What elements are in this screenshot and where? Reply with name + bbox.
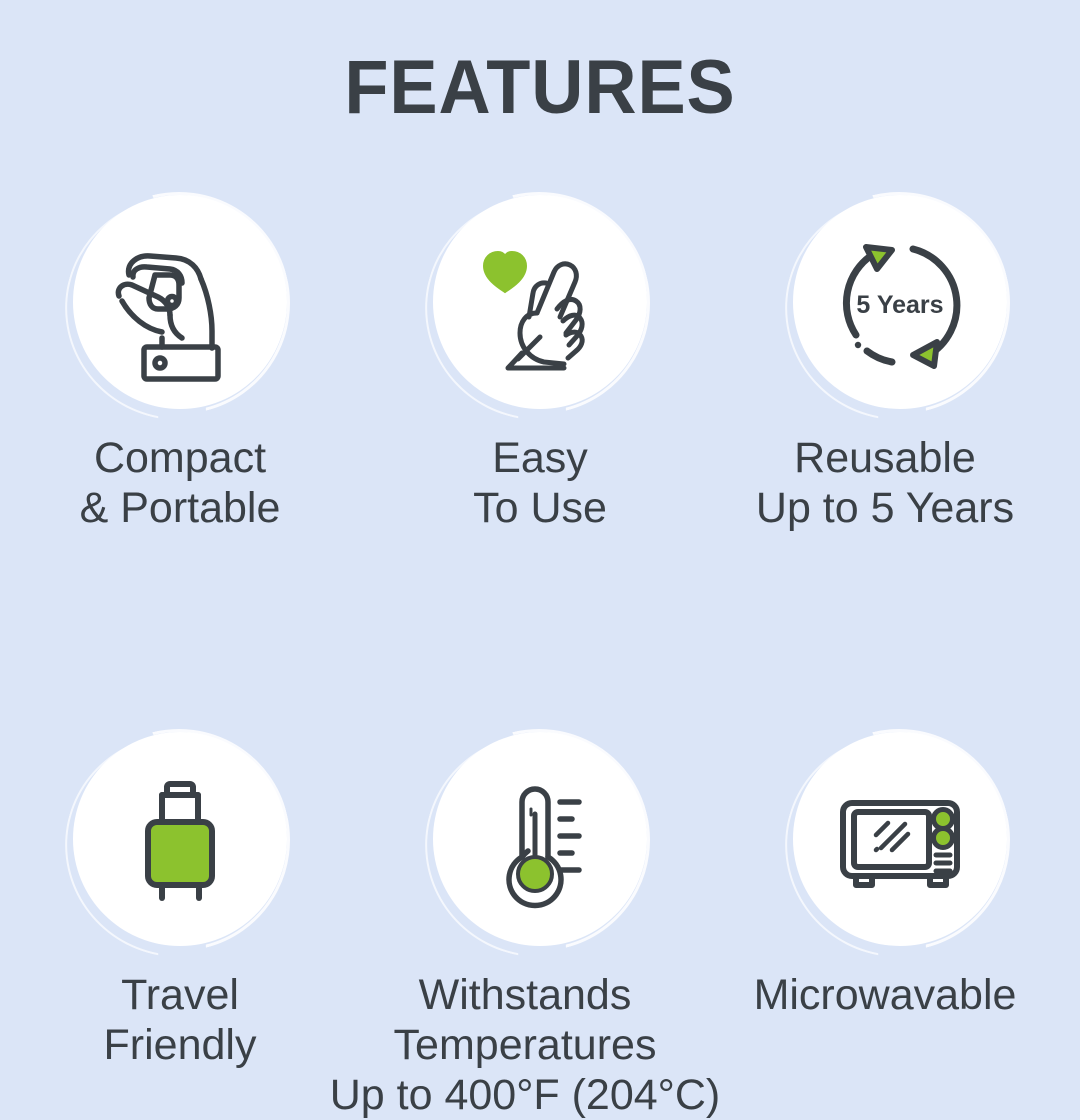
feature-item-compact-portable: Compact & Portable: [0, 190, 360, 534]
caption-line: Withstands: [315, 971, 735, 1021]
icon-medallion: [65, 190, 295, 420]
caption-line: Compact: [80, 434, 281, 484]
icon-medallion: [425, 190, 655, 420]
icon-medallion: [65, 727, 295, 957]
page-title: FEATURES: [27, 50, 1053, 126]
icon-medallion: [785, 727, 1015, 957]
features-row: Compact & Portable: [0, 190, 1080, 534]
feature-caption: Easy To Use: [473, 434, 607, 534]
caption-line: Easy: [473, 434, 607, 484]
arrowhead-top: [866, 247, 892, 269]
icon-medallion: [425, 727, 655, 957]
heart-shape: [484, 252, 526, 292]
thermometer-icon: [460, 762, 620, 922]
microwave-oven-icon: [820, 762, 980, 922]
icon-inner-label: 5 Years: [856, 291, 943, 319]
caption-line: & Portable: [80, 484, 281, 534]
thermometer-bulb: [518, 857, 552, 891]
feature-caption: Travel Friendly: [104, 971, 257, 1071]
circular-arrows-reuse-icon: 5 Years: [820, 225, 980, 385]
microwave-knob-bottom: [934, 828, 953, 847]
hand-holding-device-icon: [100, 225, 260, 385]
caption-line: To Use: [473, 484, 607, 534]
caption-line: Microwavable: [675, 971, 1080, 1021]
feature-item-withstands-temperatures: Withstands Temperatures Up to 400°F (204…: [360, 727, 720, 1120]
feature-item-microwavable: Microwavable: [720, 727, 1080, 1120]
caption-line: Up to 5 Years: [675, 484, 1080, 534]
feature-caption: Compact & Portable: [80, 434, 281, 534]
icon-medallion: 5 Years: [785, 190, 1015, 420]
finger-heart-hand-icon: [460, 225, 620, 385]
feature-item-travel-friendly: Travel Friendly: [0, 727, 360, 1120]
features-infographic: FEATURES: [0, 0, 1080, 1080]
caption-line: Friendly: [104, 1021, 257, 1071]
feature-caption: Withstands Temperatures Up to 400°F (204…: [315, 971, 735, 1120]
suitcase-body: [148, 822, 212, 885]
microwave-knob-top: [934, 809, 953, 828]
feature-caption: Microwavable: [675, 971, 1080, 1021]
feature-item-easy-to-use: Easy To Use: [360, 190, 720, 534]
caption-line: Up to 400°F (204°C): [315, 1071, 735, 1120]
gap-dot: [855, 342, 861, 348]
features-row: Travel Friendly: [0, 727, 1080, 1120]
arrowhead-bottom: [913, 342, 937, 366]
feature-item-reusable: 5 Years Reusable Up to 5 Years: [720, 190, 1080, 534]
caption-line: Temperatures: [315, 1021, 735, 1071]
features-grid: Compact & Portable: [0, 190, 1080, 1120]
caption-line: Travel: [104, 971, 257, 1021]
rolling-suitcase-icon: [100, 762, 260, 922]
caption-line: Reusable: [675, 434, 1080, 484]
feature-caption: Reusable Up to 5 Years: [675, 434, 1080, 534]
